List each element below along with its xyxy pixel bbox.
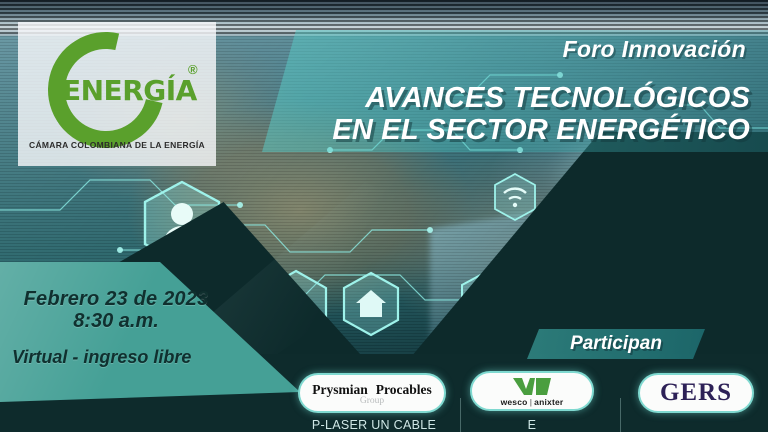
title-headline: AVANCES TECNOLÓGICOS EN EL SECTOR ENERGÉ… xyxy=(230,82,750,147)
gers-wordmark: GERS xyxy=(660,379,732,407)
logo-registered-mark: ® xyxy=(188,62,198,77)
sponsor-divider-2 xyxy=(620,398,621,432)
anixter-text: anixter xyxy=(534,397,563,407)
prysmian-caption: P-LASER UN CABLE xyxy=(276,418,472,432)
event-modality: Virtual - ingreso libre xyxy=(0,347,232,367)
event-time: 8:30 a.m. xyxy=(0,310,232,332)
wesco-text: wesco xyxy=(501,397,528,407)
wesco-divider: | xyxy=(530,397,533,407)
wesco-caption: E xyxy=(470,418,594,432)
organization-logo-card: ENERGÍA ® CÁMARA COLOMBIANA DE LA ENERGÍ… xyxy=(18,22,216,166)
prysmian-word1: Prysmian xyxy=(312,382,368,397)
title-kicker: Foro Innovación xyxy=(563,36,746,63)
sponsor-logo-prysmian: PrysmianProcables Group xyxy=(298,373,446,413)
wesco-w-mark-icon xyxy=(511,378,553,395)
prysmian-wordmark: PrysmianProcables xyxy=(308,383,436,397)
event-date: Febrero 23 de 2023 xyxy=(0,288,232,310)
prysmian-group-text: Group xyxy=(360,397,384,407)
prysmian-word2: Procables xyxy=(376,382,432,397)
poster-root: Febrero 23 de 2023 8:30 a.m. Virtual - i… xyxy=(0,0,768,432)
title-headline-line1: AVANCES TECNOLÓGICOS xyxy=(230,82,750,114)
title-headline-line2: EN EL SECTOR ENERGÉTICO xyxy=(230,114,750,146)
logo-subtitle: CÁMARA COLOMBIANA DE LA ENERGÍA xyxy=(18,140,216,150)
wesco-anixter-wordmark: wesco|anixter xyxy=(501,397,564,407)
event-details: Febrero 23 de 2023 8:30 a.m. Virtual - i… xyxy=(0,288,232,367)
sponsor-logo-gers: GERS xyxy=(638,373,754,413)
logo-brand-text: ENERGÍA xyxy=(62,74,212,107)
sponsor-logo-wesco-anixter: wesco|anixter xyxy=(470,371,594,411)
participants-heading: Participan xyxy=(527,333,705,355)
